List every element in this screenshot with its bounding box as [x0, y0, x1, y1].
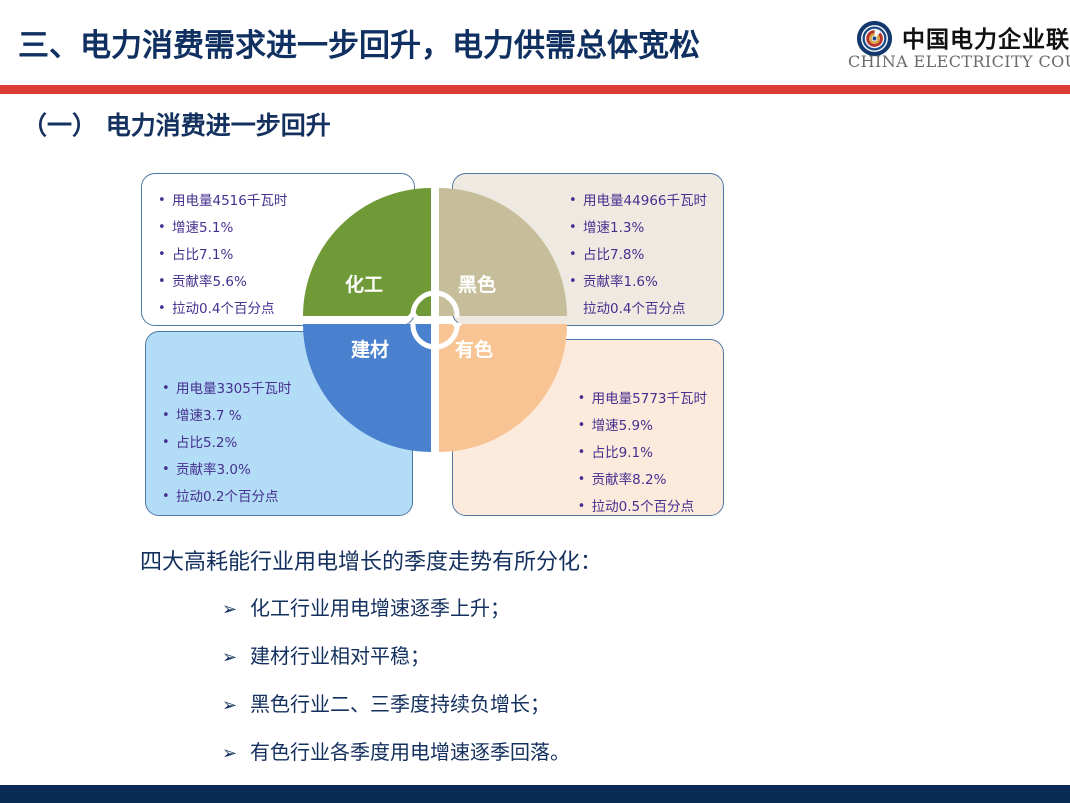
list-item: 增速1.3%: [569, 215, 707, 242]
arrow-bullet-icon: ➢: [222, 740, 250, 768]
list-item: 贡献率1.6%: [569, 269, 707, 296]
list-item: ➢ 化工行业用电增速逐季上升；: [222, 594, 842, 622]
quadrant-circle: 化工 黑色 建材 有色: [303, 188, 567, 452]
list-item: 占比9.1%: [578, 440, 707, 467]
bullet-text: 建材行业相对平稳；: [250, 642, 430, 670]
arrow-bullet-icon: ➢: [222, 644, 250, 672]
list-item: 拉动0.4个百分点: [569, 296, 707, 323]
page-title: 三、电力消费需求进一步回升，电力供需总体宽松: [18, 26, 700, 66]
bullet-text: 化工行业用电增速逐季上升；: [250, 594, 510, 622]
list-item: 增速5.9%: [578, 413, 707, 440]
conclusion-bullet-list: ➢ 化工行业用电增速逐季上升； ➢ 建材行业相对平稳； ➢ 黑色行业二、三季度持…: [222, 594, 842, 786]
quadrant-label-chemical: 化工: [345, 270, 383, 297]
info-list-ferrous: 用电量44966千瓦时 增速1.3% 占比7.8% 贡献率1.6% 拉动0.4个…: [569, 188, 707, 323]
list-item: 用电量5773千瓦时: [578, 386, 707, 413]
four-industry-diagram: 用电量4516千瓦时 增速5.1% 占比7.1% 贡献率5.6% 拉动0.4个百…: [135, 165, 735, 525]
section-subtitle: （一） 电力消费进一步回升: [22, 106, 331, 142]
arrow-bullet-icon: ➢: [222, 596, 250, 624]
bullet-text: 有色行业各季度用电增速逐季回落。: [250, 738, 570, 766]
list-item: ➢ 黑色行业二、三季度持续负增长；: [222, 690, 842, 718]
bullet-text: 黑色行业二、三季度持续负增长；: [250, 690, 550, 718]
list-item: ➢ 建材行业相对平稳；: [222, 642, 842, 670]
slide-header: 三、电力消费需求进一步回升，电力供需总体宽松 中国电力企业联合会 CHINA E…: [0, 0, 1070, 93]
arrow-bullet-icon: ➢: [222, 692, 250, 720]
header-accent-bar: [0, 85, 1070, 94]
list-item: ➢ 有色行业各季度用电增速逐季回落。: [222, 738, 842, 766]
organization-logo: 中国电力企业联合会 CHINA ELECTRICITY COUNCIL: [846, 18, 1062, 80]
logo-chinese-name: 中国电力企业联合会: [902, 20, 1070, 54]
list-item: 拉动0.5个百分点: [578, 494, 707, 521]
info-list-nonferrous: 用电量5773千瓦时 增速5.9% 占比9.1% 贡献率8.2% 拉动0.5个百…: [578, 386, 707, 521]
lead-paragraph: 四大高耗能行业用电增长的季度走势有所分化：: [140, 544, 602, 576]
footer-bar: [0, 785, 1070, 803]
list-item: 贡献率8.2%: [578, 467, 707, 494]
list-item: 用电量44966千瓦时: [569, 188, 707, 215]
header-divider: [0, 80, 1070, 82]
circular-arrows-icon: [401, 286, 469, 354]
logo-english-name: CHINA ELECTRICITY COUNCIL: [848, 52, 1070, 71]
list-item: 占比7.8%: [569, 242, 707, 269]
list-item: 拉动0.2个百分点: [162, 484, 396, 511]
list-item: 贡献率3.0%: [162, 457, 396, 484]
quadrant-label-building-materials: 建材: [351, 335, 389, 362]
